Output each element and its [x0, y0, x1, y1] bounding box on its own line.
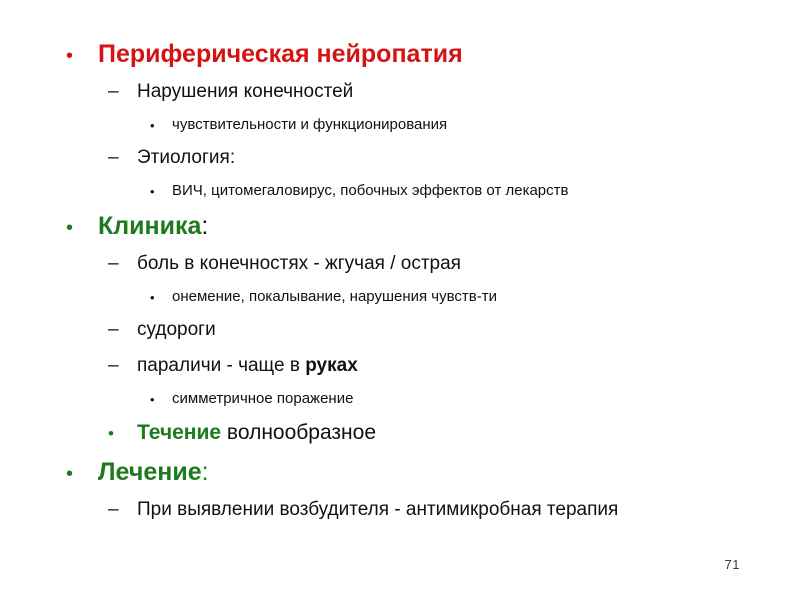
- bullet-etiology: – Этиология:: [0, 140, 792, 176]
- dash-icon: –: [108, 140, 119, 176]
- disorders-sub-label: чувствительности и функционирования: [172, 110, 447, 140]
- bullet-clinic: • Клиника:: [0, 206, 792, 246]
- course-wrap: Течение волнообразное: [137, 414, 376, 452]
- slide: • Периферическая нейропатия – Нарушения …: [0, 0, 792, 600]
- dash-icon: –: [108, 246, 119, 282]
- clinic-heading-wrap: Клиника:: [98, 206, 208, 246]
- round-bullet-icon: •: [66, 46, 80, 66]
- round-bullet-icon: •: [108, 425, 114, 442]
- paralysis-emphasis: руках: [305, 355, 358, 376]
- pain-sub-label: онемение, покалывание, нарушения чувств-…: [172, 282, 497, 312]
- round-bullet-icon: •: [150, 291, 155, 304]
- bullet-title: • Периферическая нейропатия: [0, 34, 792, 74]
- course-rest: волнообразное: [221, 421, 376, 444]
- dash-icon: –: [108, 74, 119, 110]
- etiology-sub-label: ВИЧ, цитомегаловирус, побочных эффектов …: [172, 176, 569, 206]
- page-title: Периферическая нейропатия: [98, 34, 463, 74]
- disorders-label: Нарушения конечностей: [137, 74, 353, 110]
- round-bullet-icon: •: [150, 185, 155, 198]
- pain-label: боль в конечностях - жгучая / острая: [137, 246, 461, 282]
- round-bullet-icon: •: [150, 393, 155, 406]
- bullet-disorders: – Нарушения конечностей: [0, 74, 792, 110]
- bullet-etiology-sub: • ВИЧ, цитомегаловирус, побочных эффекто…: [0, 176, 792, 206]
- round-bullet-icon: •: [66, 218, 80, 238]
- bullet-pain: – боль в конечностях - жгучая / острая: [0, 246, 792, 282]
- clinic-heading: Клиника: [98, 212, 201, 240]
- cramps-label: судороги: [137, 312, 216, 348]
- treatment-colon: :: [202, 458, 209, 486]
- treatment-heading-wrap: Лечение:: [98, 452, 209, 492]
- bullet-disorders-sub: • чувствительности и функционирования: [0, 110, 792, 140]
- round-bullet-icon: •: [150, 119, 155, 132]
- bullet-treatment-detail: – При выявлении возбудителя - антимикроб…: [0, 492, 792, 528]
- paralysis-label-wrap: параличи - чаще в руках: [137, 348, 358, 384]
- bullet-cramps: – судороги: [0, 312, 792, 348]
- clinic-colon: :: [201, 212, 208, 240]
- bullet-pain-sub: • онемение, покалывание, нарушения чувст…: [0, 282, 792, 312]
- bullet-paralysis: – параличи - чаще в руках: [0, 348, 792, 384]
- round-bullet-icon: •: [66, 464, 80, 484]
- dash-icon: –: [108, 348, 119, 384]
- slide-content: • Периферическая нейропатия – Нарушения …: [0, 34, 792, 528]
- paralysis-sub-label: симметричное поражение: [172, 384, 353, 414]
- bullet-paralysis-sub: • симметричное поражение: [0, 384, 792, 414]
- bullet-treatment: • Лечение:: [0, 452, 792, 492]
- etiology-label: Этиология:: [137, 140, 235, 176]
- dash-icon: –: [108, 492, 119, 528]
- paralysis-label: параличи - чаще в: [137, 355, 305, 376]
- bullet-course: • Течение волнообразное: [0, 414, 792, 452]
- treatment-heading: Лечение: [98, 458, 202, 486]
- treatment-detail-label: При выявлении возбудителя - антимикробна…: [137, 492, 618, 528]
- page-number: 71: [725, 557, 740, 572]
- dash-icon: –: [108, 312, 119, 348]
- course-heading: Течение: [137, 421, 221, 444]
